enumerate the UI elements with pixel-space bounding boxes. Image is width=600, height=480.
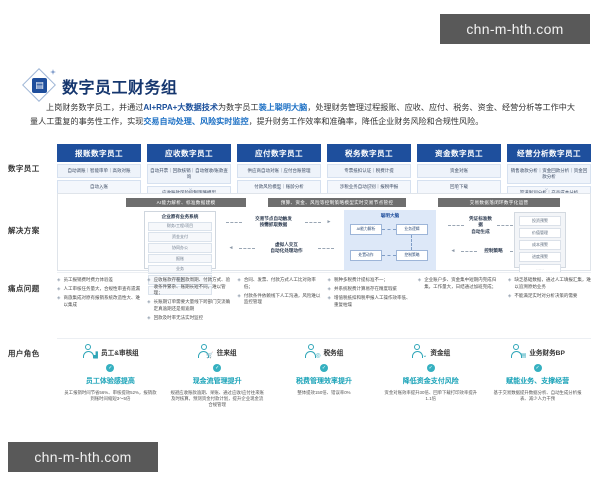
pain-point-text: 合同、发票、付款方式人工比对效率低； (244, 277, 321, 290)
user-role-benefit: 降低资金支付风险 (403, 376, 459, 386)
solution-band-2: 预算、资金、风险等控制策略模型实时交易节点管控 (268, 198, 406, 207)
dash-line (239, 248, 255, 249)
user-role-header: 🛒往来组 (198, 344, 237, 359)
bullet-icon: ◈ (57, 295, 61, 308)
check-icon: ✓ (106, 364, 114, 372)
pain-points-row: ◈员工报销费时费力体验差◈人工审核任务量大，合规性审查有遗漏◈商旅集成对原有报销… (57, 277, 591, 324)
pain-point-item: ◈合同、发票、付款方式人工比对效率低； (237, 277, 320, 290)
chevron-down-icon: ⌄ (187, 185, 195, 193)
legacy-systems-title: 企业原有业务系统 (148, 214, 212, 220)
flow-left-label: 交易节点自动触发按需抓取数据 (245, 216, 302, 229)
output-list: 投资预警价值管理成本预警进度预警…… (519, 216, 561, 273)
pain-point-text: 并系统税费计算易存在精度瑕疵 (334, 286, 397, 293)
flow-left-label: 虚拟人交互自动化处理动作 (258, 242, 315, 255)
pain-point-text: 企业账户多、资金集中短期内完成归集，工作量大，日结通过加班完成； (424, 277, 501, 290)
smart-brain-label: 聪明大脑 (344, 213, 436, 219)
dash-line (226, 222, 242, 223)
output-item: 价值管理 (519, 228, 561, 238)
arrow-left-icon: ◄ (448, 248, 458, 254)
bullet-icon: ◈ (328, 286, 332, 293)
user-role-card[interactable]: ▤业务财务BP✓赋能业务、支撑经营基于交易数据提升数据分析、自动生成分析报表、减… (484, 344, 591, 409)
flow-right-label: 控制策略 (480, 248, 507, 254)
person-badge-icon: ◎ (315, 353, 320, 359)
pain-point-item: ◈回款及时率无法实时监控 (147, 315, 230, 322)
person-head-shape (201, 344, 207, 350)
bullet-icon: ◈ (57, 277, 61, 284)
pain-point-item: ◈人工审核任务量大，合规性审查有遗漏 (57, 286, 140, 293)
pain-point-text: 应收账款存在回款周期、付款方式、验收条件繁杂、账期长短不同，难以管理； (154, 277, 231, 297)
person-tax-icon: ◎ (305, 344, 320, 359)
person-body-shape (83, 351, 94, 358)
output-item: 成本预警 (519, 240, 561, 250)
user-role-benefit: 现金流管理提升 (193, 376, 242, 386)
chevron-down-icon: ⌄ (543, 185, 551, 193)
pain-point-text: 缺乏基础数据，通过人工填报汇集，难以追溯原始业务 (514, 277, 591, 290)
person-badge-icon: ▤ (521, 353, 527, 359)
page-title: 数字员工财务组 (62, 74, 178, 98)
user-role-description: 整体提效150倍、错误率0% (277, 390, 371, 396)
pain-point-item: ◈员工报销费时费力体验差 (57, 277, 140, 284)
person-head-shape (513, 344, 519, 350)
employee-card-title: 经营分析数字员工 (507, 144, 591, 162)
pain-point-item: ◈企业账户多、资金集中短期内完成归集，工作量大，日结通过加班完成； (418, 277, 501, 290)
brain-link-2 (382, 255, 396, 256)
pain-points-column: ◈合同、发票、付款方式人工比对效率低；◈付款条件依赖线下人工沟通，风险难以监控管… (237, 277, 320, 324)
dash-line (318, 248, 334, 249)
pain-point-text: 人工审核任务量大，合规性审查有遗漏 (64, 286, 141, 293)
user-role-name: 业务财务BP (529, 347, 565, 357)
user-role-name: 往来组 (217, 347, 237, 357)
user-role-name: 员工&审核组 (101, 347, 139, 357)
pain-points-column: ◈税种多税费计提标准不一；◈并系统税费计算易存在精度瑕疵◈增值税抵扣和税申报人工… (328, 277, 411, 324)
person-report-icon: ▤ (510, 344, 525, 359)
output-item: 投资预警 (519, 216, 561, 226)
bullet-icon: ◈ (57, 286, 61, 293)
intro-text-2: 为数字员工 (218, 103, 259, 112)
chevron-down-icon: ⌄ (98, 185, 106, 193)
user-role-header: ⌄资金组 (411, 344, 450, 359)
bullet-icon: ◈ (147, 299, 151, 312)
dash-line (461, 251, 477, 252)
employee-card-title: 税务数字员工 (327, 144, 411, 162)
pain-point-item: ◈增值税抵扣和税申报人工操作效率低、重复枯燥 (328, 295, 411, 308)
pain-point-item: ◈长账期订单需要大量线下跨部门交流确定真逾期还是假逾期 (147, 299, 230, 312)
pain-point-item: ◈并系统税费计算易存在精度瑕疵 (328, 286, 411, 293)
person-badge-icon: 🛒 (206, 353, 213, 359)
check-icon: ✓ (534, 364, 542, 372)
pain-point-text: 税种多税费计提标准不一； (334, 277, 388, 284)
pain-points-column: ◈缺乏基础数据，通过人工填报汇集，难以追溯原始业务◈不能满足实时对分析决策的需要 (508, 277, 591, 324)
pain-points-column: ◈应收账款存在回款周期、付款方式、验收条件繁杂、账期长短不同，难以管理；◈长账期… (147, 277, 230, 324)
chevron-down-icon: ⌄ (276, 185, 284, 193)
user-role-description: 员工报销时间节省56%、审核提效52%，报销款到账时间缩短3～5倍 (63, 390, 157, 403)
pain-point-item: ◈税种多税费计提标准不一； (328, 277, 411, 284)
user-role-benefit: 员工体验感提高 (86, 376, 135, 386)
dash-line (448, 225, 464, 226)
employee-card-capabilities-1: 资金对账 (417, 164, 501, 178)
flow-left-row: ◄虚拟人交互自动化处理动作 (226, 242, 334, 255)
intro-text-4: ，提升财务工作效率和准确率，降低企业财务风险和合规性风险。 (249, 117, 484, 126)
output-item: 进度预警 (519, 252, 561, 262)
user-role-card[interactable]: 🛒往来组✓现金流管理提升规避应收账款逾期、呆账、通过应收/应付往来账及时核算，预… (164, 344, 271, 409)
employee-card-title: 报账数字员工 (57, 144, 141, 162)
bullet-icon: ◈ (418, 277, 422, 290)
bullet-icon: ◈ (328, 277, 332, 284)
flow-right-label: 凭证标准数据自动生成 (467, 216, 494, 235)
brain-link-1 (382, 229, 396, 230)
person-badge-icon: ▟ (93, 353, 98, 359)
logo-spark-icon (50, 69, 56, 75)
intro-paragraph: 上岗财务数字员工，并通过AI+RPA+大数据技术为数字员工装上聪明大脑，处理财务… (30, 101, 575, 129)
pain-point-item: ◈不能满足实时对分析决策的需要 (508, 293, 591, 300)
pain-points-column: ◈企业账户多、资金集中短期内完成归集，工作量大，日结通过加班完成； (418, 277, 501, 324)
solution-band-3: 交易数据落闭环数字化运营 (438, 198, 560, 207)
solution-diagram: AI能力解析、标准数据建模 预算、资金、风险等控制策略模型实时交易节点管控 交易… (57, 193, 591, 271)
arrow-right-icon: ► (324, 219, 334, 225)
intro-highlight-1: 装上聪明大脑 (259, 103, 308, 112)
legacy-system-item: 财务/工程/项目 (148, 222, 212, 232)
pain-point-text: 不能满足实时对分析决策的需要 (514, 293, 577, 300)
employee-card-capabilities-1: 供应商自动对账｜应付台账管理 (237, 164, 321, 178)
pain-point-item: ◈付款条件依赖线下人工沟通，风险难以监控管理 (237, 293, 320, 306)
pain-point-item: ◈商旅集成对原有报销系统改造性大、难以集成 (57, 295, 140, 308)
user-role-description: 规避应收账款逾期、呆账、通过应收/应付往来账及时核算，预测资金付款计划，提升企业… (170, 390, 264, 409)
solution-band-1: AI能力解析、标准数据建模 (126, 198, 246, 207)
flow-left-group: 交易节点自动触发按需抓取数据►◄虚拟人交互自动化处理动作 (226, 216, 334, 268)
user-role-benefit: 税费管理效率提升 (296, 376, 352, 386)
user-role-card[interactable]: ◎税务组✓税费管理效率提升整体提效150倍、错误率0% (271, 344, 378, 409)
bullet-icon: ◈ (508, 293, 512, 300)
bullet-icon: ◈ (237, 277, 241, 290)
employee-card-capabilities-1: 自动调账｜智能审单｜高效对账 (57, 164, 141, 178)
title-row: ▤ 数字员工财务组 (26, 72, 178, 99)
user-role-header: ▟员工&审核组 (82, 344, 139, 359)
pain-point-item: ◈应收账款存在回款周期、付款方式、验收条件繁杂、账期长短不同，难以管理； (147, 277, 230, 297)
slide-canvas: chn-m-hth.com chn-m-hth.com ▤ 数字员工财务组 上岗… (0, 0, 600, 480)
dash-line (497, 225, 513, 226)
pain-point-text: 员工报销费时费力体验差 (64, 277, 114, 284)
user-role-header: ▤业务财务BP (510, 344, 565, 359)
brain-node-ai: AI能力解析 (350, 224, 382, 235)
intro-bold-1: AI+RPA+大数据技术 (143, 103, 218, 112)
employee-card-capabilities-1: 专票抵扣认证｜税费计提 (327, 164, 411, 178)
brain-link-3 (411, 235, 412, 250)
pain-point-text: 商旅集成对原有报销系统改造性大、难以集成 (64, 295, 141, 308)
brain-node-logic: 业务逻辑 (396, 224, 428, 235)
watermark-bottom: chn-m-hth.com (8, 442, 158, 472)
bullet-icon: ◈ (508, 277, 512, 290)
chevron-down-icon: ⌄ (454, 185, 462, 193)
user-role-benefit: 赋能业务、支撑经营 (506, 376, 569, 386)
employee-card-title: 应收数字员工 (147, 144, 231, 162)
person-head-shape (414, 344, 420, 350)
intro-text-1: 上岗财务数字员工，并通过 (46, 103, 143, 112)
employee-card-capabilities-1: 自动开票｜回款核销｜自动催收/账款查询 (147, 164, 231, 184)
flow-left-row: 交易节点自动触发按需抓取数据► (226, 216, 334, 229)
arrow-left-icon: ◄ (226, 245, 236, 251)
output-box: 投资预警价值管理成本预警进度预警…… (514, 212, 566, 268)
pain-point-item: ◈缺乏基础数据，通过人工填报汇集，难以追溯原始业务 (508, 277, 591, 290)
bullet-icon: ◈ (237, 293, 241, 306)
pain-points-column: ◈员工报销费时费力体验差◈人工审核任务量大，合规性审查有遗漏◈商旅集成对原有报销… (57, 277, 140, 324)
employee-card-title: 资金数字员工 (417, 144, 501, 162)
logo-inner-square: ▤ (32, 78, 47, 93)
document-badge-icon: ▤ (26, 72, 53, 99)
divider-pains-top (57, 272, 591, 273)
intro-highlight-2: 交易自动处理、风险实时监控 (143, 117, 248, 126)
chevron-down-icon: ⌄ (365, 185, 373, 193)
person-body-shape (412, 351, 423, 358)
pain-point-text: 回款及时率无法实时监控 (154, 315, 204, 322)
user-roles-row: ▟员工&审核组✓员工体验感提高员工报销时间节省56%、审核提效52%，报销款到账… (57, 344, 591, 409)
legacy-systems-box: 企业原有业务系统 财务/工程/项目资金支付协同办公报账业务税务 (144, 211, 216, 269)
check-icon: ✓ (427, 364, 435, 372)
bullet-icon: ◈ (328, 295, 332, 308)
person-approval-icon: ▟ (82, 344, 97, 359)
person-badge-icon: ⌄ (422, 353, 427, 359)
user-role-description: 基于交易数据提升数据分析、自动生成分析报表、减少人力干预 (491, 390, 585, 403)
brain-node-action: 处置动作 (350, 250, 382, 261)
legacy-system-item: 协同办公 (148, 243, 212, 253)
pain-point-text: 付款条件依赖线下人工沟通，风险难以监控管理 (244, 293, 321, 306)
person-cart-icon: 🛒 (198, 344, 213, 359)
employee-card-capabilities-1: 销售收款分析｜资金回款分析｜资金回款分析 (507, 164, 591, 184)
watermark-top: chn-m-hth.com (440, 14, 590, 44)
pain-point-text: 长账期订单需要大量线下跨部门交流确定真逾期还是假逾期 (154, 299, 231, 312)
user-role-name: 资金组 (430, 347, 450, 357)
check-icon: ✓ (213, 364, 221, 372)
person-funds-icon: ⌄ (411, 344, 426, 359)
legacy-system-item: 报账 (148, 254, 212, 264)
user-role-card[interactable]: ▟员工&审核组✓员工体验感提高员工报销时间节省56%、审核提效52%，报销款到账… (57, 344, 164, 409)
person-head-shape (85, 344, 91, 350)
user-role-description: 资金对账效率提升30倍、回单下载打印效率提升1.1倍 (384, 390, 478, 403)
user-role-header: ◎税务组 (305, 344, 344, 359)
check-icon: ✓ (320, 364, 328, 372)
bullet-icon: ◈ (147, 277, 151, 297)
user-role-name: 税务组 (324, 347, 344, 357)
legacy-system-item: 资金支付 (148, 232, 212, 242)
divider-roles-top (57, 338, 591, 339)
user-role-card[interactable]: ⌄资金组✓降低资金支付风险资金对账效率提升30倍、回单下载打印效率提升1.1倍 (377, 344, 484, 409)
employee-card-title: 应付数字员工 (237, 144, 321, 162)
person-head-shape (308, 344, 314, 350)
dash-line (305, 222, 321, 223)
pain-point-text: 增值税抵扣和税申报人工操作效率低、重复枯燥 (334, 295, 411, 308)
bullet-icon: ◈ (147, 315, 151, 322)
smart-brain-box: 聪明大脑 AI能力解析 业务逻辑 处置动作 控制策略 (344, 210, 436, 270)
brain-node-strategy: 控制策略 (396, 250, 428, 261)
